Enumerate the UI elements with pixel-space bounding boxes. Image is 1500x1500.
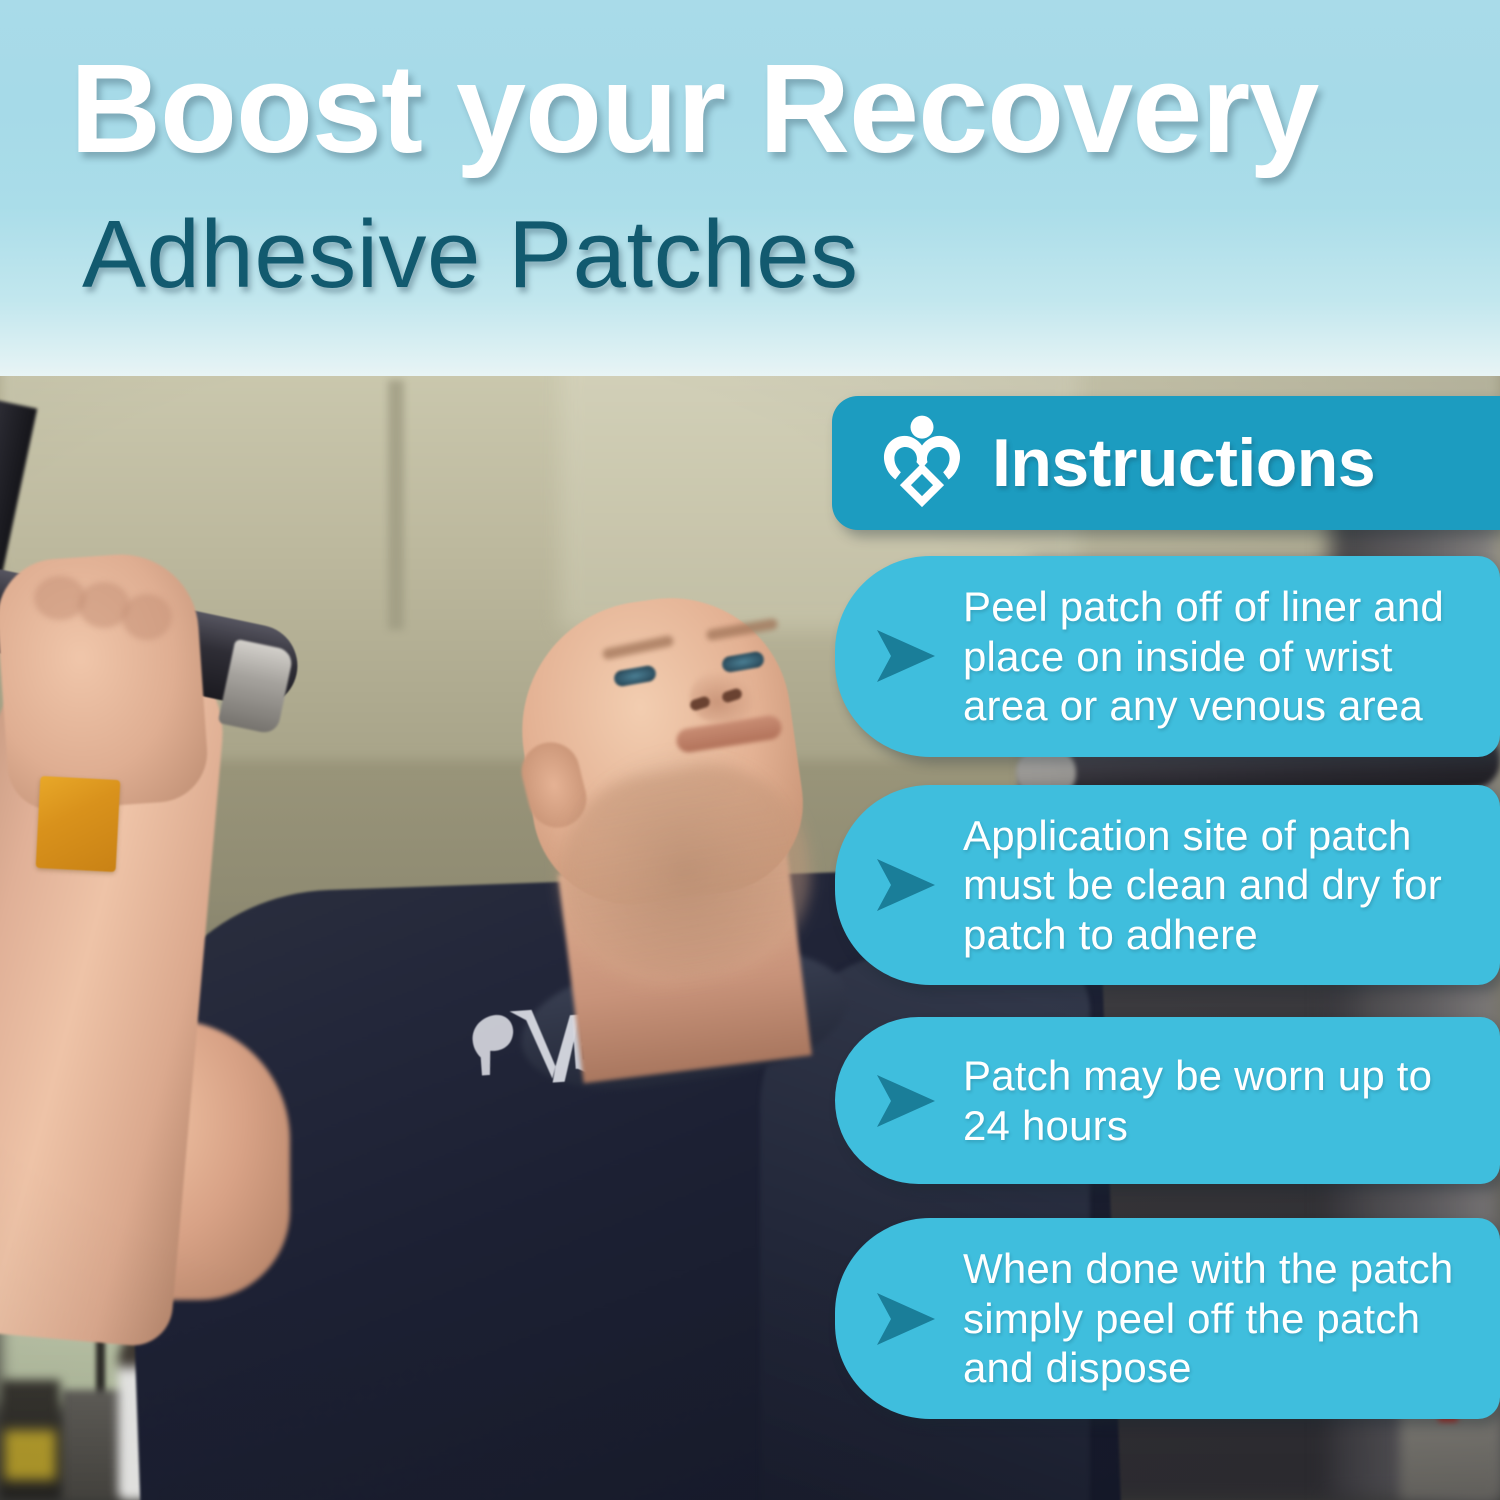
- instruction-step-1: Peel patch off of liner and place on ins…: [835, 556, 1500, 757]
- instruction-step-3: Patch may be worn up to 24 hours: [835, 1017, 1500, 1184]
- instructions-title: Instructions: [992, 429, 1375, 497]
- product-instruction-poster: Boost your Recovery Adhesive Patches Ins…: [0, 0, 1500, 1500]
- instruction-step-3-text: Patch may be worn up to 24 hours: [963, 1051, 1470, 1150]
- title-banner: Boost your Recovery Adhesive Patches: [0, 0, 1500, 376]
- chevron-right-arrow-icon: [869, 1065, 941, 1137]
- page-subtitle: Adhesive Patches: [82, 204, 858, 306]
- gym-yellow-accent: [4, 1430, 56, 1480]
- instructions-header-badge: Instructions: [832, 396, 1500, 530]
- athlete-knuckle-3: [122, 594, 172, 640]
- instruction-step-2: Application site of patch must be clean …: [835, 785, 1500, 986]
- page-title: Boost your Recovery: [70, 42, 1318, 176]
- chevron-right-arrow-icon: [869, 849, 941, 921]
- instruction-step-2-text: Application site of patch must be clean …: [963, 811, 1470, 960]
- adhesive-patch-on-wrist: [36, 776, 121, 872]
- gym-wall-post: [388, 380, 404, 630]
- instructions-panel: Instructions Peel patch off of liner and…: [832, 396, 1500, 1419]
- instruction-step-1-text: Peel patch off of liner and place on ins…: [963, 582, 1470, 731]
- instruction-step-4-text: When done with the patch simply peel off…: [963, 1244, 1470, 1393]
- heart-person-logo-icon: [876, 415, 968, 511]
- chevron-right-arrow-icon: [869, 620, 941, 692]
- instruction-step-4: When done with the patch simply peel off…: [835, 1218, 1500, 1419]
- chevron-right-arrow-icon: [869, 1283, 941, 1355]
